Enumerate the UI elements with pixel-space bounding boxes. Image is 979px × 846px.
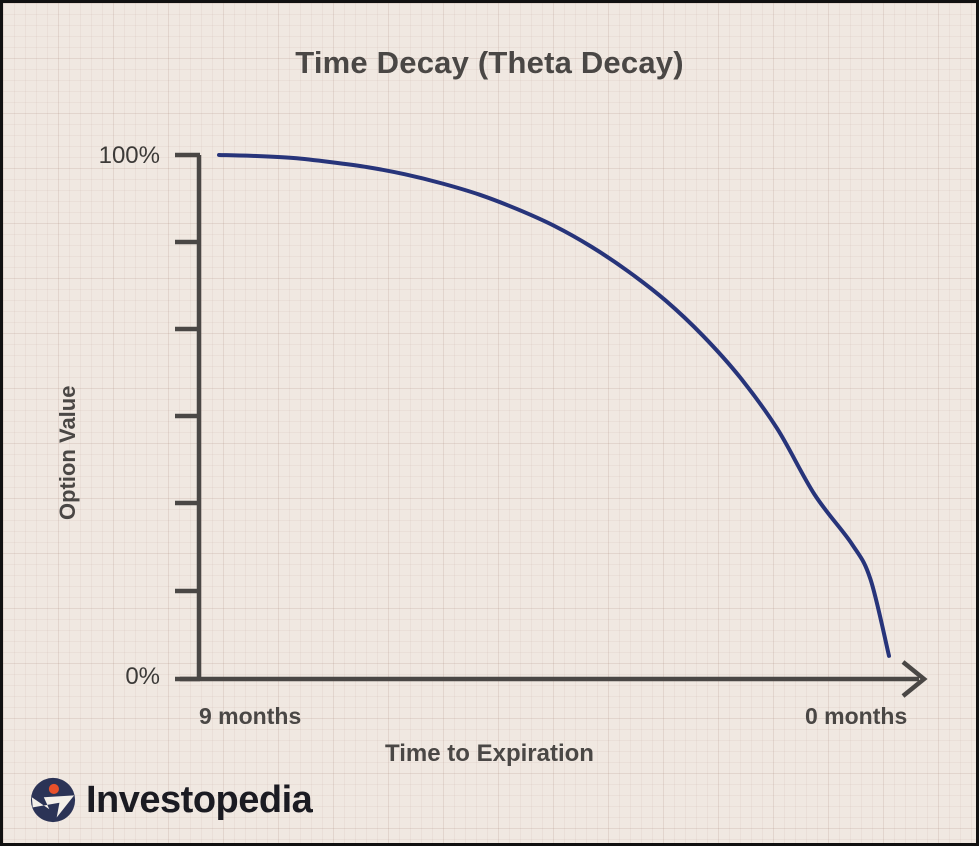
y-axis-ticks <box>175 155 200 679</box>
chart-figure: Time Decay (Theta Decay) 100% 0% 9 month… <box>0 0 979 846</box>
x-axis-title: Time to Expiration <box>3 740 976 768</box>
y-axis-tick-label-100: 100% <box>99 142 160 170</box>
investopedia-wordmark: Investopedia <box>86 781 312 819</box>
investopedia-i-icon <box>30 777 76 823</box>
x-axis-tick-label-right: 0 months <box>805 703 907 730</box>
y-axis-tick-label-0: 0% <box>125 663 160 691</box>
investopedia-logo: Investopedia <box>30 777 312 823</box>
y-axis-title: Option Value <box>55 486 81 520</box>
time-decay-curve <box>219 155 889 656</box>
x-axis-tick-label-left: 9 months <box>199 703 301 730</box>
